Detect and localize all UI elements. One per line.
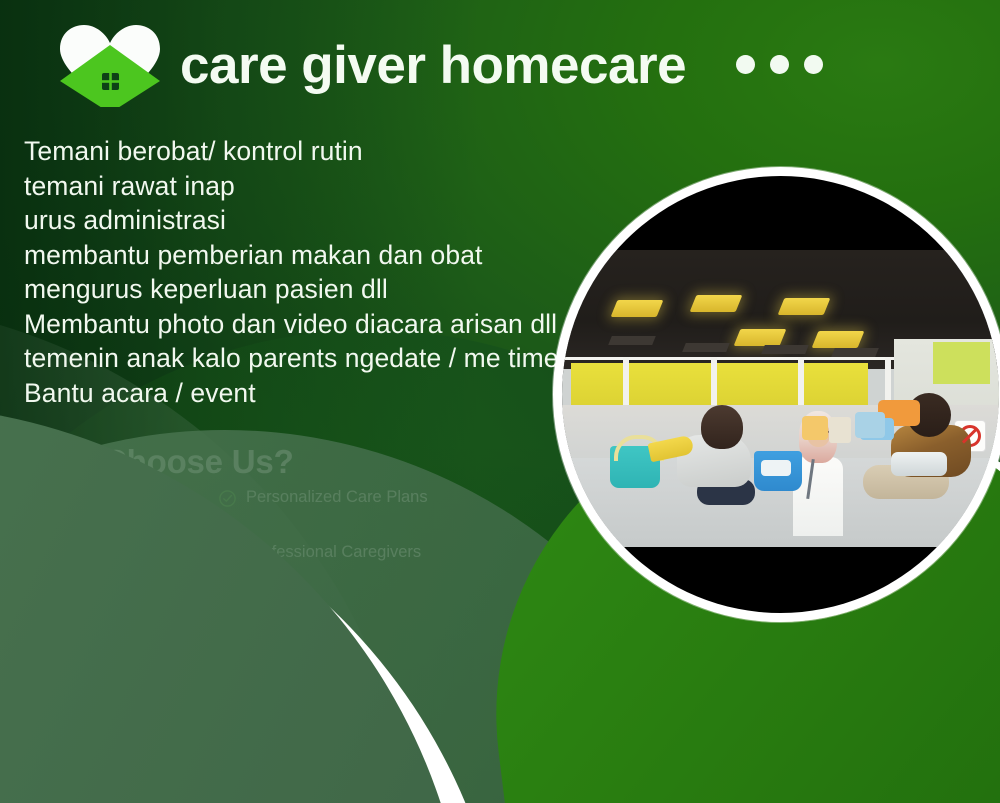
photo-circle: [553, 167, 1000, 622]
dot-icon-2: [770, 55, 789, 74]
header: care giver homecare: [56, 18, 960, 110]
scene-yellow-panel: [571, 363, 868, 408]
caregiver-with-children-playing-photo: [562, 176, 999, 613]
toy-bucket-blue: [754, 451, 802, 491]
toy-cup: [829, 417, 851, 443]
brand-title: care giver homecare: [180, 39, 686, 92]
toy-block-yellow: [802, 416, 828, 440]
heart-house-logo-icon: [56, 21, 164, 107]
service-item: Bantu acara / event: [24, 376, 644, 411]
video-frame: [562, 250, 999, 547]
dot-icon-1: [736, 55, 755, 74]
poster-canvas: care giver homecare Temani berobat/ kont…: [0, 0, 1000, 803]
toy-car: [891, 452, 947, 476]
toy-block-blue: [855, 412, 885, 438]
service-item: urus administrasi: [24, 203, 644, 238]
service-item: Temani berobat/ kontrol rutin: [24, 134, 644, 169]
service-item: mengurus keperluan pasien dll: [24, 272, 644, 307]
header-dots: [736, 55, 823, 74]
service-item: temenin anak kalo parents ngedate / me t…: [24, 341, 644, 376]
dot-icon-3: [804, 55, 823, 74]
service-item: membantu pemberian makan dan obat: [24, 238, 644, 273]
services-list: Temani berobat/ kontrol rutin temani raw…: [24, 134, 644, 410]
scene-green-panel: [933, 342, 990, 384]
service-item: temani rawat inap: [24, 169, 644, 204]
service-item: Membantu photo dan video diacara arisan …: [24, 307, 644, 342]
